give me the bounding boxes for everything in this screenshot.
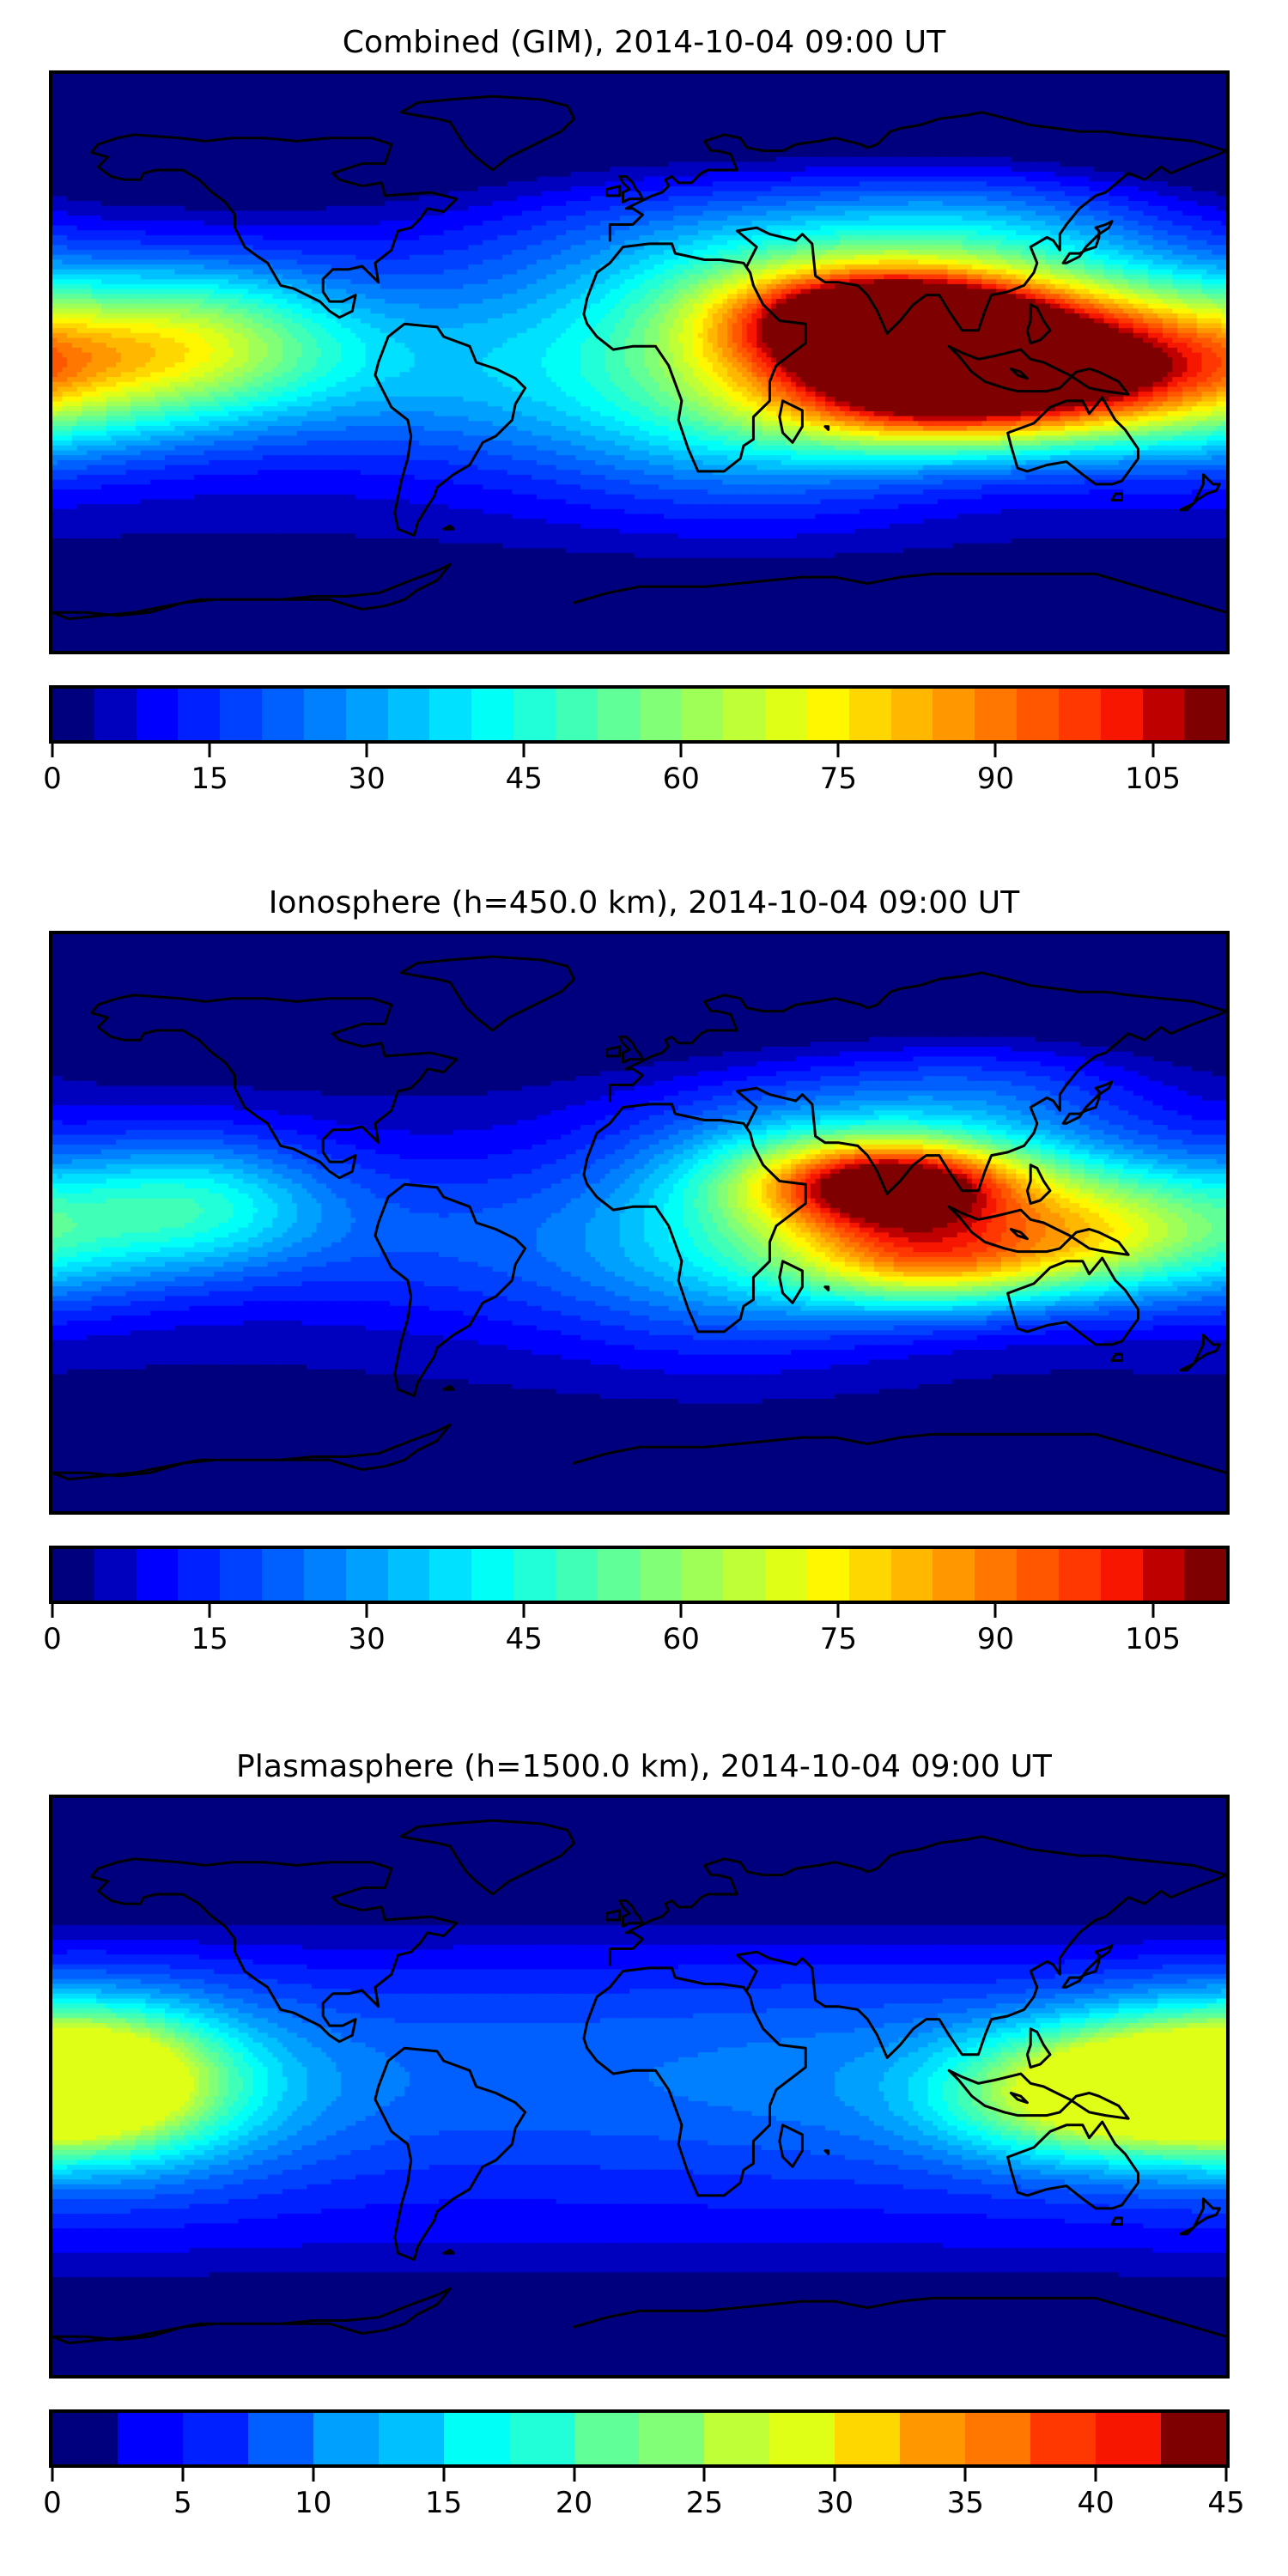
- colorbar-tick-label: 20: [556, 2483, 592, 2523]
- colorbar-tick: [366, 744, 368, 757]
- colorbar-tick: [573, 2468, 575, 2482]
- colorbar-segment: [1059, 689, 1101, 740]
- colorbar-tick: [1151, 1604, 1154, 1618]
- colorbar-segment: [1059, 1549, 1101, 1601]
- colorbar-segment: [513, 1549, 556, 1601]
- colorbar-tick: [523, 744, 526, 757]
- tec-contour-field: [52, 74, 1226, 651]
- colorbar-tick: [994, 1604, 997, 1618]
- colorbar-segment: [849, 689, 891, 740]
- map-axes-ionosphere: [49, 931, 1230, 1515]
- colorbar-tick-label: 15: [191, 759, 228, 799]
- colorbar-tick-label: 60: [663, 1619, 700, 1659]
- colorbar-segment: [723, 689, 765, 740]
- colorbar-segment: [1143, 1549, 1185, 1601]
- colorbar-segment: [1096, 2413, 1161, 2464]
- colorbar-segment: [1184, 1549, 1226, 1601]
- colorbar-ticks-combined: [49, 744, 1230, 759]
- colorbar-tick: [680, 1604, 683, 1618]
- colorbar-tick: [312, 2468, 314, 2482]
- colorbar-tick-label: 30: [817, 2483, 854, 2523]
- colorbar-segment: [118, 2413, 183, 2464]
- colorbar-segment: [640, 689, 682, 740]
- colorbar-segment: [574, 2413, 640, 2464]
- colorbar-tick-label: 10: [295, 2483, 331, 2523]
- colorbar-segment: [704, 2413, 769, 2464]
- colorbar-segment: [262, 689, 304, 740]
- colorbar-segment: [1030, 2413, 1096, 2464]
- colorbar-segment: [807, 1549, 849, 1601]
- colorbar-segment: [52, 689, 94, 740]
- colorbar-tick-label: 30: [349, 759, 386, 799]
- colorbar-gradient-plasmasphere: [49, 2409, 1230, 2468]
- colorbar-tick: [964, 2468, 967, 2482]
- colorbar-segment: [94, 689, 137, 740]
- colorbar-tick: [366, 1604, 368, 1618]
- colorbar-segment: [933, 689, 975, 740]
- colorbar-segment: [471, 689, 513, 740]
- colorbar-segment: [471, 1549, 513, 1601]
- colorbar-segment: [975, 689, 1017, 740]
- colorbar-segment: [556, 689, 598, 740]
- colorbar-segment: [723, 1549, 765, 1601]
- colorbar-tick-label: 15: [191, 1619, 228, 1659]
- colorbar-segment: [681, 689, 723, 740]
- colorbar-labels-plasmasphere: 051015202530354045: [49, 2483, 1230, 2523]
- panel-title-plasmasphere: Plasmasphere (h=1500.0 km), 2014-10-04 0…: [0, 1745, 1288, 1789]
- colorbar-tick-label: 30: [349, 1619, 386, 1659]
- colorbar-tick-label: 45: [506, 759, 543, 799]
- colorbar-segment: [513, 689, 556, 740]
- colorbar-segment: [94, 1549, 137, 1601]
- colorbar-tick: [680, 744, 683, 757]
- colorbar-labels-ionosphere: 0153045607590105: [49, 1619, 1230, 1659]
- colorbar-tick-label: 5: [173, 2483, 192, 2523]
- colorbar-tick: [209, 744, 211, 757]
- map-canvas-ionosphere: [52, 934, 1226, 1511]
- colorbar-segment: [346, 689, 388, 740]
- colorbar-segment: [220, 689, 262, 740]
- colorbar-gradient-ionosphere: [49, 1546, 1230, 1604]
- tec-figure: Combined (GIM), 2014-10-04 09:00 UT 0153…: [0, 0, 1288, 2576]
- panel-plasmasphere: Plasmasphere (h=1500.0 km), 2014-10-04 0…: [0, 1745, 1288, 1789]
- colorbar-tick-label: 60: [663, 759, 700, 799]
- colorbar-tick: [834, 2468, 836, 2482]
- colorbar-segment: [1101, 689, 1143, 740]
- colorbar-tick-label: 0: [43, 1619, 62, 1659]
- colorbar-segment: [1101, 1549, 1143, 1601]
- colorbar-segment: [444, 2413, 509, 2464]
- colorbar-tick-label: 105: [1125, 1619, 1181, 1659]
- colorbar-tick-label: 90: [977, 1619, 1014, 1659]
- tec-contour-field: [52, 934, 1226, 1511]
- colorbar-tick: [837, 1604, 840, 1618]
- colorbar-segment: [1184, 689, 1226, 740]
- colorbar-segment: [429, 689, 471, 740]
- panel-combined-gim: Combined (GIM), 2014-10-04 09:00 UT 0153…: [0, 21, 1288, 65]
- colorbar-tick: [52, 744, 54, 757]
- colorbar-tick-label: 105: [1125, 759, 1181, 799]
- colorbar-segment: [509, 2413, 574, 2464]
- colorbar-tick-label: 15: [425, 2483, 462, 2523]
- colorbar-segment: [556, 1549, 598, 1601]
- colorbar-tick-label: 45: [506, 1619, 543, 1659]
- colorbar-tick-label: 90: [977, 759, 1014, 799]
- colorbar-segment: [598, 1549, 640, 1601]
- colorbar-segment: [891, 1549, 933, 1601]
- colorbar-tick: [52, 2468, 54, 2482]
- colorbar-segment: [262, 1549, 304, 1601]
- panel-title-ionosphere: Ionosphere (h=450.0 km), 2014-10-04 09:0…: [0, 881, 1288, 926]
- colorbar-segment: [388, 689, 430, 740]
- colorbar-tick-label: 75: [820, 759, 857, 799]
- tec-contour-field: [52, 1798, 1226, 2375]
- colorbar-segment: [313, 2413, 379, 2464]
- colorbar-segment: [388, 1549, 430, 1601]
- colorbar-segment: [849, 1549, 891, 1601]
- colorbar-ticks-ionosphere: [49, 1604, 1230, 1619]
- colorbar-segment: [379, 2413, 444, 2464]
- colorbar-segment: [681, 1549, 723, 1601]
- colorbar-tick-label: 0: [43, 2483, 62, 2523]
- colorbar-tick: [1095, 2468, 1097, 2482]
- colorbar-segment: [183, 2413, 248, 2464]
- colorbar-segment: [835, 2413, 900, 2464]
- colorbar-segment: [1143, 689, 1185, 740]
- colorbar-segment: [765, 1549, 807, 1601]
- colorbar-segment: [769, 2413, 835, 2464]
- colorbar-tick: [837, 744, 840, 757]
- colorbar-tick-label: 45: [1207, 2483, 1244, 2523]
- colorbar-ionosphere: 0153045607590105: [49, 1546, 1230, 1659]
- colorbar-segment: [52, 2413, 118, 2464]
- colorbar-tick: [994, 744, 997, 757]
- colorbar-segment: [248, 2413, 313, 2464]
- colorbar-segment: [765, 689, 807, 740]
- colorbar-segment: [304, 689, 346, 740]
- colorbar-segment: [900, 2413, 965, 2464]
- colorbar-combined: 0153045607590105: [49, 685, 1230, 799]
- colorbar-segment: [429, 1549, 471, 1601]
- colorbar-plasmasphere: 051015202530354045: [49, 2409, 1230, 2523]
- colorbar-gradient-combined: [49, 685, 1230, 744]
- colorbar-segment: [220, 1549, 262, 1601]
- map-axes-combined: [49, 70, 1230, 654]
- colorbar-tick: [1151, 744, 1154, 757]
- colorbar-segment: [891, 689, 933, 740]
- colorbar-tick: [703, 2468, 706, 2482]
- colorbar-segment: [1161, 2413, 1226, 2464]
- colorbar-tick-label: 0: [43, 759, 62, 799]
- panel-title-combined: Combined (GIM), 2014-10-04 09:00 UT: [0, 21, 1288, 65]
- colorbar-segment: [1017, 689, 1059, 740]
- colorbar-labels-combined: 0153045607590105: [49, 759, 1230, 799]
- colorbar-segment: [975, 1549, 1017, 1601]
- map-canvas-combined: [52, 74, 1226, 651]
- colorbar-tick: [442, 2468, 445, 2482]
- colorbar-tick: [523, 1604, 526, 1618]
- panel-ionosphere: Ionosphere (h=450.0 km), 2014-10-04 09:0…: [0, 881, 1288, 926]
- colorbar-segment: [178, 689, 220, 740]
- colorbar-segment: [137, 1549, 179, 1601]
- colorbar-segment: [965, 2413, 1030, 2464]
- colorbar-segment: [1017, 1549, 1059, 1601]
- colorbar-tick: [52, 1604, 54, 1618]
- colorbar-tick: [209, 1604, 211, 1618]
- colorbar-tick-label: 35: [947, 2483, 984, 2523]
- colorbar-segment: [598, 689, 640, 740]
- colorbar-segment: [640, 1549, 682, 1601]
- colorbar-segment: [639, 2413, 704, 2464]
- colorbar-tick-label: 40: [1077, 2483, 1114, 2523]
- colorbar-tick-label: 25: [686, 2483, 723, 2523]
- colorbar-tick-label: 75: [820, 1619, 857, 1659]
- colorbar-segment: [178, 1549, 220, 1601]
- colorbar-segment: [52, 1549, 94, 1601]
- colorbar-segment: [137, 689, 179, 740]
- colorbar-tick: [181, 2468, 184, 2482]
- map-axes-plasmasphere: [49, 1795, 1230, 2379]
- colorbar-segment: [304, 1549, 346, 1601]
- colorbar-segment: [933, 1549, 975, 1601]
- colorbar-segment: [807, 689, 849, 740]
- map-canvas-plasmasphere: [52, 1798, 1226, 2375]
- colorbar-segment: [346, 1549, 388, 1601]
- colorbar-tick: [1225, 2468, 1228, 2482]
- colorbar-ticks-plasmasphere: [49, 2468, 1230, 2483]
